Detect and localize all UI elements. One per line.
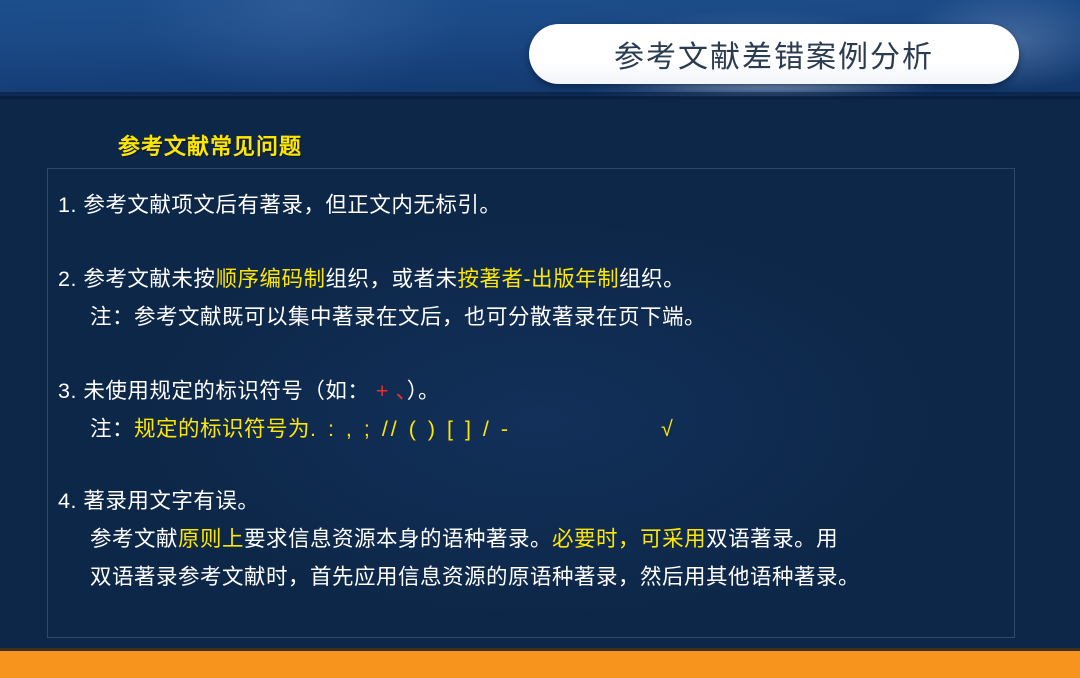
error-symbol-plus: + — [376, 379, 389, 403]
page-title: 参考文献差错案例分析 — [614, 32, 934, 76]
highlight-when-necessary: 必要时， — [552, 527, 640, 551]
list-item: 3. 未使用规定的标识符号（如： + 、）。 注：规定的标识符号为. : , ;… — [0, 372, 1080, 482]
highlight-in-principle: 原则上 — [178, 527, 244, 551]
list-item-3-note: 注：规定的标识符号为. : , ; // ( ) [ ] / -√ — [90, 410, 673, 448]
list-item-2-note: 注：参考文献既可以集中著录在文后，也可分散著录在页下端。 — [90, 298, 706, 336]
note-3-highlight: 规定的标识符号为 — [134, 417, 310, 441]
title-pill-glow — [549, 84, 999, 100]
list-item-4-paragraph-line-2: 双语著录参考文献时，首先应用信息资源的原语种著录，然后用其他语种著录。 — [90, 558, 860, 596]
highlight-may-adopt: 可采用 — [640, 527, 706, 551]
standard-symbols-list: . : , ; // ( ) [ ] / - — [310, 417, 511, 441]
highlight-sequential-coding: 顺序编码制 — [215, 267, 325, 291]
section-heading: 参考文献常见问题 — [118, 129, 302, 161]
problem-list: 1. 参考文献项文后有著录，但正文内无标引。 2. 参考文献未按顺序编码制组织，… — [0, 186, 1080, 600]
slide: 参考文献差错案例分析 参考文献常见问题 1. 参考文献项文后有著录，但正文内无标… — [0, 0, 1080, 678]
error-symbol-dunhao: 、 — [395, 379, 406, 403]
list-item-1-text: 1. 参考文献项文后有著录，但正文内无标引。 — [58, 186, 501, 224]
footer-accent-bar — [0, 651, 1080, 678]
check-mark-icon: √ — [661, 417, 673, 441]
list-item-4-text: 4. 著录用文字有误。 — [58, 482, 259, 520]
highlight-author-year: 按著者-出版年制 — [457, 267, 619, 291]
list-item: 1. 参考文献项文后有著录，但正文内无标引。 — [0, 186, 1080, 260]
list-item: 4. 著录用文字有误。 参考文献原则上要求信息资源本身的语种著录。必要时，可采用… — [0, 482, 1080, 600]
list-item-3-text: 3. 未使用规定的标识符号（如： + 、）。 — [58, 372, 440, 410]
slide-title-pill: 参考文献差错案例分析 — [529, 24, 1019, 84]
list-item-4-paragraph-line-1: 参考文献原则上要求信息资源本身的语种著录。必要时，可采用双语著录。用 — [90, 520, 838, 558]
list-item-2-text: 2. 参考文献未按顺序编码制组织，或者未按著者-出版年制组织。 — [58, 260, 685, 298]
list-item: 2. 参考文献未按顺序编码制组织，或者未按著者-出版年制组织。 注：参考文献既可… — [0, 260, 1080, 372]
